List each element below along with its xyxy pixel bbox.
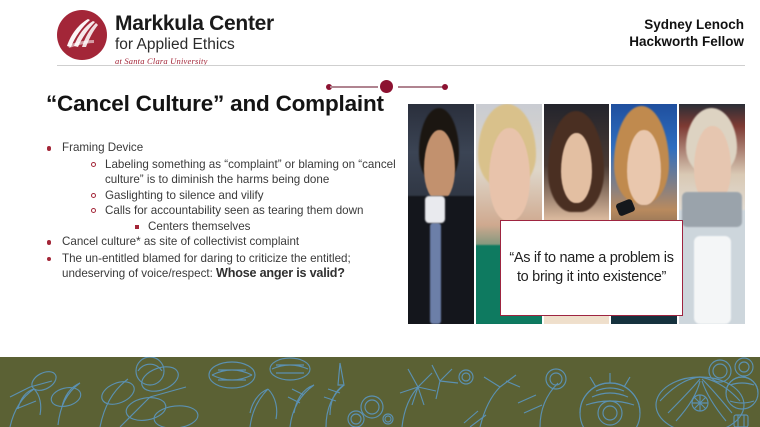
markkula-logo: Markkula Center for Applied Ethics at Sa… bbox=[57, 10, 274, 66]
slide-title: “Cancel Culture” and Complaint bbox=[46, 91, 384, 117]
tie-shape bbox=[430, 223, 441, 324]
bullet-text: Gaslighting to silence and vilify bbox=[105, 188, 408, 204]
presenter-block: Sydney Lenoch Hackworth Fellow bbox=[629, 16, 744, 51]
bullet-marker-disc bbox=[36, 140, 62, 151]
presenter-title: Hackworth Fellow bbox=[629, 33, 744, 50]
bullet-level1: Cancel culture* as site of collectivist … bbox=[36, 234, 408, 250]
header-divider-rule bbox=[57, 65, 745, 66]
footer-botanical-band bbox=[0, 357, 760, 427]
divider-bar-right bbox=[398, 86, 444, 88]
botanical-pattern-icon bbox=[0, 357, 760, 427]
collar-shape bbox=[425, 196, 445, 222]
quote-overlay-box: “As if to name a problem is to bring it … bbox=[500, 220, 683, 316]
bullet-marker-circle bbox=[81, 157, 105, 167]
bullet-marker-square bbox=[126, 219, 148, 230]
divider-bar-left bbox=[330, 86, 378, 88]
bullet-text: Framing Device bbox=[62, 140, 408, 156]
bullet-marker-disc bbox=[36, 234, 62, 245]
bullet-level1: The un-entitled blamed for daring to cri… bbox=[36, 251, 408, 282]
bullet-marker-circle bbox=[81, 188, 105, 198]
bullet-text: Centers themselves bbox=[148, 219, 408, 235]
bullet-emphasis: Whose anger is valid? bbox=[216, 266, 345, 280]
bullet-text: Cancel culture* as site of collectivist … bbox=[62, 234, 408, 250]
bullet-text-with-emphasis: The un-entitled blamed for daring to cri… bbox=[62, 251, 408, 282]
lapel-shape bbox=[682, 192, 743, 227]
logo-line-1: Markkula Center bbox=[115, 13, 274, 35]
logo-line-2: for Applied Ethics bbox=[115, 36, 274, 54]
face-shape bbox=[424, 130, 456, 200]
portrait-panel-1 bbox=[408, 104, 474, 324]
slide-canvas: Markkula Center for Applied Ethics at Sa… bbox=[0, 0, 760, 427]
bullet-marker-disc bbox=[36, 251, 62, 262]
bullet-text: Labeling something as “complaint” or bla… bbox=[105, 157, 408, 188]
bullet-level2: Calls for accountability seen as tearing… bbox=[36, 203, 408, 219]
slide-header: Markkula Center for Applied Ethics at Sa… bbox=[0, 0, 760, 62]
logo-text-block: Markkula Center for Applied Ethics at Sa… bbox=[115, 10, 274, 66]
bullet-level1: Framing Device bbox=[36, 140, 408, 156]
presenter-name: Sydney Lenoch bbox=[629, 16, 744, 33]
shirt-shape bbox=[694, 236, 731, 324]
quote-text: “As if to name a problem is to bring it … bbox=[501, 249, 682, 288]
bullet-level2: Labeling something as “complaint” or bla… bbox=[36, 157, 408, 188]
markkula-m-logo-icon bbox=[57, 10, 107, 60]
bullet-level3: Centers themselves bbox=[36, 219, 408, 235]
bullet-list: Framing Device Labeling something as “co… bbox=[36, 140, 408, 283]
bullet-marker-circle bbox=[81, 203, 105, 213]
face-shape bbox=[489, 128, 530, 220]
bullet-level2: Gaslighting to silence and vilify bbox=[36, 188, 408, 204]
portrait-panel-5 bbox=[679, 104, 745, 324]
face-shape bbox=[561, 133, 593, 203]
bullet-text: Calls for accountability seen as tearing… bbox=[105, 203, 408, 219]
face-shape bbox=[627, 130, 661, 205]
divider-dot-small-right bbox=[442, 84, 448, 90]
